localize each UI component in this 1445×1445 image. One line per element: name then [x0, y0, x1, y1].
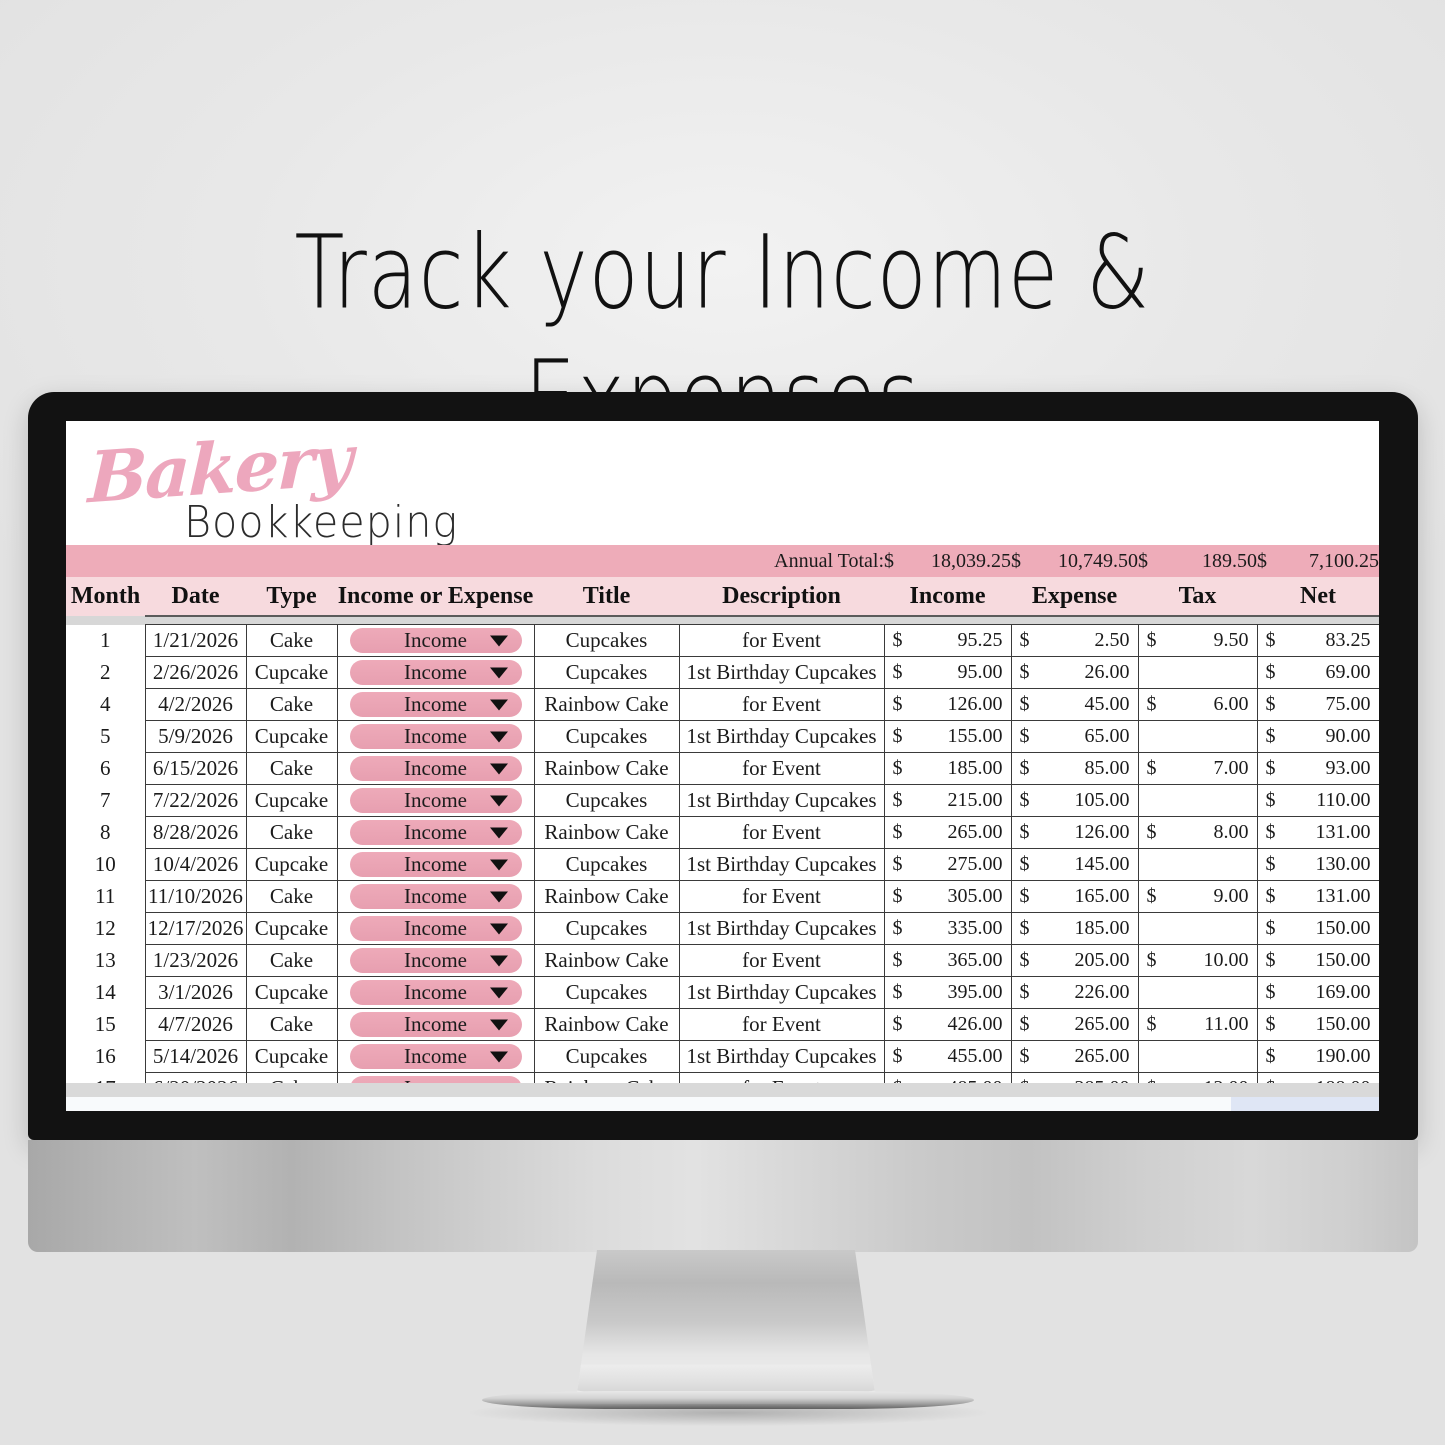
money-cell[interactable]: $155.00 — [884, 721, 1011, 753]
money-cell[interactable]: $110.00 — [1257, 785, 1379, 817]
amount-value: 90.00 — [1326, 725, 1371, 748]
cell-income-or-expense[interactable]: Income — [337, 817, 534, 849]
cell-type[interactable]: Cupcake — [246, 657, 337, 689]
amount-value: 65.00 — [1085, 725, 1130, 748]
cell-title[interactable]: Cupcakes — [534, 913, 679, 945]
money-cell[interactable]: $9.50 — [1138, 625, 1257, 657]
cell-month: 13 — [66, 945, 145, 977]
table-row[interactable]: 1111/10/2026CakeIncomeRainbow Cakefor Ev… — [66, 881, 1379, 913]
income-expense-dropdown[interactable]: Income — [350, 884, 522, 909]
currency-symbol: $ — [893, 725, 903, 748]
sheet-tabs-clipped[interactable] — [66, 1105, 1379, 1111]
cell-date[interactable]: 5/14/2026 — [145, 1041, 246, 1073]
currency-symbol: $ — [893, 949, 903, 972]
dropdown-selected-label: Income — [404, 916, 467, 941]
table-row[interactable]: 143/1/2026CupcakeIncomeCupcakes1st Birth… — [66, 977, 1379, 1009]
cell-date[interactable]: 4/2/2026 — [145, 689, 246, 721]
cell-income-or-expense[interactable]: Income — [337, 1009, 534, 1041]
cell-description[interactable]: for Event — [679, 753, 884, 785]
cell-month: 6 — [66, 753, 145, 785]
chevron-down-icon[interactable] — [490, 1051, 508, 1062]
amount-value: 130.00 — [1316, 853, 1371, 876]
currency-symbol: $ — [1020, 757, 1030, 780]
cell-description[interactable]: for Event — [679, 1009, 884, 1041]
money-cell[interactable]: $105.00 — [1011, 785, 1138, 817]
table-row[interactable]: 66/15/2026CakeIncomeRainbow Cakefor Even… — [66, 753, 1379, 785]
cell-date[interactable]: 10/4/2026 — [145, 849, 246, 881]
currency-symbol: $ — [893, 629, 903, 652]
cell-description[interactable]: for Event — [679, 881, 884, 913]
currency-symbol: $ — [1020, 885, 1030, 908]
ledger-table: Annual Total:$18,039.25$10,749.50$189.50… — [66, 545, 1379, 1105]
money-cell[interactable]: $126.00 — [884, 689, 1011, 721]
money-cell[interactable]: $8.00 — [1138, 817, 1257, 849]
table-row[interactable]: 1010/4/2026CupcakeIncomeCupcakes1st Birt… — [66, 849, 1379, 881]
cell-description[interactable]: for Event — [679, 689, 884, 721]
cell-type[interactable]: Cupcake — [246, 1041, 337, 1073]
money-cell[interactable]: $205.00 — [1011, 945, 1138, 977]
cell-title[interactable]: Cupcakes — [534, 785, 679, 817]
cell-income-or-expense[interactable]: Income — [337, 977, 534, 1009]
monitor-screen: Bakery Bookkeeping Annual Total:$18,039.… — [66, 421, 1379, 1111]
dropdown-selected-label: Income — [404, 724, 467, 749]
cell-type[interactable]: Cake — [246, 625, 337, 657]
table-row[interactable]: 165/14/2026CupcakeIncomeCupcakes1st Birt… — [66, 1041, 1379, 1073]
currency-symbol: $ — [893, 789, 903, 812]
dropdown-selected-label: Income — [404, 660, 467, 685]
amount-value: 150.00 — [1316, 949, 1371, 972]
amount-value: 10,749.50 — [1058, 550, 1138, 573]
cell-date[interactable]: 7/22/2026 — [145, 785, 246, 817]
cell-type[interactable]: Cupcake — [246, 977, 337, 1009]
cell-description[interactable]: 1st Birthday Cupcakes — [679, 721, 884, 753]
amount-value: 155.00 — [948, 725, 1003, 748]
currency-symbol: $ — [893, 885, 903, 908]
income-expense-dropdown[interactable]: Income — [350, 948, 522, 973]
income-expense-dropdown[interactable]: Income — [350, 724, 522, 749]
currency-symbol: $ — [1266, 661, 1276, 684]
column-header-type[interactable]: Type — [246, 577, 337, 616]
cell-type[interactable]: Cupcake — [246, 721, 337, 753]
income-expense-dropdown[interactable]: Income — [350, 852, 522, 877]
brand-logo: Bakery Bookkeeping — [66, 421, 1379, 545]
cell-type[interactable]: Cake — [246, 689, 337, 721]
currency-symbol: $ — [1020, 949, 1030, 972]
stand-shadow — [470, 1404, 986, 1426]
amount-value: 205.00 — [1075, 949, 1130, 972]
currency-symbol: $ — [884, 550, 894, 573]
dropdown-selected-label: Income — [404, 756, 467, 781]
table-row[interactable]: 131/23/2026CakeIncomeRainbow Cakefor Eve… — [66, 945, 1379, 977]
money-cell[interactable]: $75.00 — [1257, 689, 1379, 721]
cell-description[interactable]: 1st Birthday Cupcakes — [679, 657, 884, 689]
annual-total-tax: $189.50 — [1138, 545, 1257, 577]
header-gap-cell — [66, 616, 1379, 625]
money-cell-empty[interactable] — [1138, 721, 1257, 753]
amount-value: 365.00 — [948, 949, 1003, 972]
cell-month: 11 — [66, 881, 145, 913]
money-cell[interactable]: $426.00 — [884, 1009, 1011, 1041]
money-cell-empty[interactable] — [1138, 785, 1257, 817]
column-header-title[interactable]: Title — [534, 577, 679, 616]
currency-symbol: $ — [893, 1013, 903, 1036]
money-cell[interactable]: $150.00 — [1257, 1009, 1379, 1041]
logo-subtitle-text: Bookkeeping — [184, 497, 458, 548]
column-header-income[interactable]: Income — [884, 577, 1011, 616]
currency-symbol: $ — [1020, 821, 1030, 844]
cell-type[interactable]: Cake — [246, 945, 337, 977]
cell-month: 7 — [66, 785, 145, 817]
cell-type[interactable]: Cupcake — [246, 785, 337, 817]
money-cell[interactable]: $150.00 — [1257, 945, 1379, 977]
annual-total-income: $18,039.25 — [884, 545, 1011, 577]
chevron-down-icon[interactable] — [490, 635, 508, 646]
money-cell[interactable]: $90.00 — [1257, 721, 1379, 753]
sheet-bottom-strip — [66, 1083, 1379, 1097]
money-cell[interactable]: $2.50 — [1011, 625, 1138, 657]
cell-title[interactable]: Cupcakes — [534, 1041, 679, 1073]
income-expense-dropdown[interactable]: Income — [350, 1012, 522, 1037]
money-cell[interactable]: $95.25 — [884, 625, 1011, 657]
currency-symbol: $ — [1266, 853, 1276, 876]
cell-income-or-expense[interactable]: Income — [337, 689, 534, 721]
money-cell[interactable]: $130.00 — [1257, 849, 1379, 881]
amount-value: 8.00 — [1214, 821, 1249, 844]
annual-total-net: $7,100.25 — [1257, 545, 1379, 577]
cell-month: 16 — [66, 1041, 145, 1073]
amount-value: 85.00 — [1085, 757, 1130, 780]
money-cell-empty[interactable] — [1138, 913, 1257, 945]
cell-income-or-expense[interactable]: Income — [337, 753, 534, 785]
income-expense-dropdown[interactable]: Income — [350, 980, 522, 1005]
cell-date[interactable]: 1/23/2026 — [145, 945, 246, 977]
cell-type[interactable]: Cake — [246, 881, 337, 913]
dropdown-selected-label: Income — [404, 852, 467, 877]
table-row[interactable]: 77/22/2026CupcakeIncomeCupcakes1st Birth… — [66, 785, 1379, 817]
currency-symbol: $ — [1266, 693, 1276, 716]
currency-symbol: $ — [1266, 885, 1276, 908]
money-cell[interactable]: $185.00 — [1011, 913, 1138, 945]
annual-total-expense: $10,749.50 — [1011, 545, 1138, 577]
amount-value: 6.00 — [1214, 693, 1249, 716]
chevron-down-icon[interactable] — [490, 667, 508, 678]
amount-value: 145.00 — [1075, 853, 1130, 876]
currency-symbol: $ — [893, 693, 903, 716]
amount-value: 105.00 — [1075, 789, 1130, 812]
income-expense-dropdown[interactable]: Income — [350, 1044, 522, 1069]
cell-title[interactable]: Rainbow Cake — [534, 1009, 679, 1041]
cell-month: 5 — [66, 721, 145, 753]
dropdown-selected-label: Income — [404, 884, 467, 909]
cell-title[interactable]: Cupcakes — [534, 657, 679, 689]
money-cell-empty[interactable] — [1138, 657, 1257, 689]
cell-description[interactable]: 1st Birthday Cupcakes — [679, 785, 884, 817]
amount-value: 18,039.25 — [931, 550, 1011, 573]
cell-month: 4 — [66, 689, 145, 721]
cell-income-or-expense[interactable]: Income — [337, 849, 534, 881]
currency-symbol: $ — [1020, 629, 1030, 652]
currency-symbol: $ — [1020, 661, 1030, 684]
cell-description[interactable]: 1st Birthday Cupcakes — [679, 849, 884, 881]
table-row[interactable]: 11/21/2026CakeIncomeCupcakesfor Event$95… — [66, 625, 1379, 657]
money-cell[interactable]: $165.00 — [1011, 881, 1138, 913]
currency-symbol: $ — [1020, 725, 1030, 748]
cell-title[interactable]: Cupcakes — [534, 977, 679, 1009]
money-cell[interactable]: $185.00 — [884, 753, 1011, 785]
cell-income-or-expense[interactable]: Income — [337, 881, 534, 913]
amount-value: 150.00 — [1316, 917, 1371, 940]
cell-description[interactable]: for Event — [679, 817, 884, 849]
cell-month: 15 — [66, 1009, 145, 1041]
money-cell[interactable]: $455.00 — [884, 1041, 1011, 1073]
currency-symbol: $ — [1266, 821, 1276, 844]
money-cell[interactable]: $169.00 — [1257, 977, 1379, 1009]
currency-symbol: $ — [1147, 821, 1157, 844]
currency-symbol: $ — [1147, 757, 1157, 780]
income-expense-dropdown[interactable]: Income — [350, 916, 522, 941]
cell-date[interactable]: 3/1/2026 — [145, 977, 246, 1009]
cell-title[interactable]: Cupcakes — [534, 625, 679, 657]
chevron-down-icon[interactable] — [490, 827, 508, 838]
money-cell[interactable]: $215.00 — [884, 785, 1011, 817]
amount-value: 150.00 — [1316, 1013, 1371, 1036]
amount-value: 265.00 — [1075, 1045, 1130, 1068]
currency-symbol: $ — [1266, 917, 1276, 940]
amount-value: 75.00 — [1326, 693, 1371, 716]
cell-title[interactable]: Rainbow Cake — [534, 689, 679, 721]
cell-month: 2 — [66, 657, 145, 689]
amount-value: 93.00 — [1326, 757, 1371, 780]
amount-value: 275.00 — [948, 853, 1003, 876]
money-cell-empty[interactable] — [1138, 849, 1257, 881]
cell-date[interactable]: 1/21/2026 — [145, 625, 246, 657]
money-cell[interactable]: $85.00 — [1011, 753, 1138, 785]
dropdown-selected-label: Income — [404, 1044, 467, 1069]
money-cell[interactable]: $131.00 — [1257, 817, 1379, 849]
cell-date[interactable]: 4/7/2026 — [145, 1009, 246, 1041]
money-cell[interactable]: $335.00 — [884, 913, 1011, 945]
chevron-down-icon[interactable] — [490, 987, 508, 998]
column-header-row: MonthDateTypeIncome or ExpenseTitleDescr… — [66, 577, 1379, 616]
column-header-tax[interactable]: Tax — [1138, 577, 1257, 616]
cell-title[interactable]: Rainbow Cake — [534, 881, 679, 913]
money-cell[interactable]: $365.00 — [884, 945, 1011, 977]
chevron-down-icon[interactable] — [490, 795, 508, 806]
currency-symbol: $ — [1147, 629, 1157, 652]
cell-title[interactable]: Rainbow Cake — [534, 945, 679, 977]
column-header-date[interactable]: Date — [145, 577, 246, 616]
cell-income-or-expense[interactable]: Income — [337, 1041, 534, 1073]
cell-title[interactable]: Cupcakes — [534, 849, 679, 881]
currency-symbol: $ — [1020, 693, 1030, 716]
chevron-down-icon[interactable] — [490, 923, 508, 934]
money-cell[interactable]: $395.00 — [884, 977, 1011, 1009]
table-row[interactable]: 88/28/2026CakeIncomeRainbow Cakefor Even… — [66, 817, 1379, 849]
currency-symbol: $ — [1266, 629, 1276, 652]
cell-month: 1 — [66, 625, 145, 657]
income-expense-dropdown[interactable]: Income — [350, 820, 522, 845]
currency-symbol: $ — [1138, 550, 1148, 573]
cell-date[interactable]: 5/9/2026 — [145, 721, 246, 753]
amount-value: 95.00 — [958, 661, 1003, 684]
chevron-down-icon[interactable] — [490, 891, 508, 902]
money-cell[interactable]: $93.00 — [1257, 753, 1379, 785]
money-cell[interactable]: $11.00 — [1138, 1009, 1257, 1041]
chevron-down-icon[interactable] — [490, 763, 508, 774]
column-header-description[interactable]: Description — [679, 577, 884, 616]
money-cell[interactable]: $10.00 — [1138, 945, 1257, 977]
cell-income-or-expense[interactable]: Income — [337, 657, 534, 689]
chevron-down-icon[interactable] — [490, 699, 508, 710]
amount-value: 395.00 — [948, 981, 1003, 1004]
cell-title[interactable]: Cupcakes — [534, 721, 679, 753]
dropdown-selected-label: Income — [404, 1012, 467, 1037]
cell-date[interactable]: 11/10/2026 — [145, 881, 246, 913]
dropdown-selected-label: Income — [404, 980, 467, 1005]
amount-value: 265.00 — [1075, 1013, 1130, 1036]
currency-symbol: $ — [1020, 789, 1030, 812]
cell-month: 10 — [66, 849, 145, 881]
table-row[interactable]: 44/2/2026CakeIncomeRainbow Cakefor Event… — [66, 689, 1379, 721]
cell-month: 14 — [66, 977, 145, 1009]
amount-value: 189.50 — [1202, 550, 1257, 573]
cell-title[interactable]: Rainbow Cake — [534, 817, 679, 849]
table-row[interactable]: 154/7/2026CakeIncomeRainbow Cakefor Even… — [66, 1009, 1379, 1041]
dropdown-selected-label: Income — [404, 788, 467, 813]
amount-value: 165.00 — [1075, 885, 1130, 908]
currency-symbol: $ — [1266, 1013, 1276, 1036]
cell-description[interactable]: 1st Birthday Cupcakes — [679, 977, 884, 1009]
money-cell[interactable]: $69.00 — [1257, 657, 1379, 689]
cell-type[interactable]: Cake — [246, 753, 337, 785]
money-cell[interactable]: $305.00 — [884, 881, 1011, 913]
cell-income-or-expense[interactable]: Income — [337, 945, 534, 977]
cell-date[interactable]: 12/17/2026 — [145, 913, 246, 945]
currency-symbol: $ — [1266, 949, 1276, 972]
currency-symbol: $ — [1147, 949, 1157, 972]
money-cell[interactable]: $226.00 — [1011, 977, 1138, 1009]
cell-income-or-expense[interactable]: Income — [337, 913, 534, 945]
cell-income-or-expense[interactable]: Income — [337, 785, 534, 817]
money-cell-empty[interactable] — [1138, 1041, 1257, 1073]
chevron-down-icon[interactable] — [490, 1019, 508, 1030]
amount-value: 126.00 — [948, 693, 1003, 716]
table-row[interactable]: 1212/17/2026CupcakeIncomeCupcakes1st Bir… — [66, 913, 1379, 945]
column-header-expense[interactable]: Expense — [1011, 577, 1138, 616]
money-cell[interactable]: $65.00 — [1011, 721, 1138, 753]
cell-type[interactable]: Cupcake — [246, 849, 337, 881]
money-cell[interactable]: $190.00 — [1257, 1041, 1379, 1073]
dropdown-selected-label: Income — [404, 628, 467, 653]
money-cell[interactable]: $6.00 — [1138, 689, 1257, 721]
poster-canvas: Track your Income & Expenses for the Mon… — [0, 0, 1445, 1445]
amount-value: 215.00 — [948, 789, 1003, 812]
income-expense-dropdown[interactable]: Income — [350, 660, 522, 685]
currency-symbol: $ — [1266, 757, 1276, 780]
currency-symbol: $ — [1147, 885, 1157, 908]
currency-symbol: $ — [893, 821, 903, 844]
money-cell[interactable]: $126.00 — [1011, 817, 1138, 849]
currency-symbol: $ — [1147, 693, 1157, 716]
cell-description[interactable]: 1st Birthday Cupcakes — [679, 1041, 884, 1073]
money-cell[interactable]: $150.00 — [1257, 913, 1379, 945]
column-header-month[interactable]: Month — [66, 577, 145, 616]
money-cell[interactable]: $45.00 — [1011, 689, 1138, 721]
currency-symbol: $ — [1020, 981, 1030, 1004]
cell-date[interactable]: 6/15/2026 — [145, 753, 246, 785]
monitor-chin — [28, 1140, 1418, 1252]
currency-symbol: $ — [1266, 789, 1276, 812]
money-cell[interactable]: $265.00 — [1011, 1009, 1138, 1041]
money-cell[interactable]: $26.00 — [1011, 657, 1138, 689]
column-header-income-or-expense[interactable]: Income or Expense — [337, 577, 534, 616]
cell-description[interactable]: for Event — [679, 625, 884, 657]
dropdown-selected-label: Income — [404, 692, 467, 717]
cell-income-or-expense[interactable]: Income — [337, 625, 534, 657]
monitor-stand-neck — [576, 1250, 876, 1400]
amount-value: 2.50 — [1095, 629, 1130, 652]
cell-date[interactable]: 8/28/2026 — [145, 817, 246, 849]
chevron-down-icon[interactable] — [490, 859, 508, 870]
currency-symbol: $ — [893, 853, 903, 876]
chevron-down-icon[interactable] — [490, 731, 508, 742]
money-cell[interactable]: $265.00 — [884, 817, 1011, 849]
income-expense-dropdown[interactable]: Income — [350, 628, 522, 653]
amount-value: 26.00 — [1085, 661, 1130, 684]
amount-value: 185.00 — [948, 757, 1003, 780]
cell-income-or-expense[interactable]: Income — [337, 721, 534, 753]
income-expense-dropdown[interactable]: Income — [350, 756, 522, 781]
income-expense-dropdown[interactable]: Income — [350, 692, 522, 717]
currency-symbol: $ — [1266, 1045, 1276, 1068]
chevron-down-icon[interactable] — [490, 955, 508, 966]
amount-value: 335.00 — [948, 917, 1003, 940]
cell-description[interactable]: 1st Birthday Cupcakes — [679, 913, 884, 945]
money-cell-empty[interactable] — [1138, 977, 1257, 1009]
amount-value: 95.25 — [958, 629, 1003, 652]
money-cell[interactable]: $7.00 — [1138, 753, 1257, 785]
money-cell[interactable]: $145.00 — [1011, 849, 1138, 881]
amount-value: 126.00 — [1075, 821, 1130, 844]
cell-description[interactable]: for Event — [679, 945, 884, 977]
money-cell[interactable]: $275.00 — [884, 849, 1011, 881]
income-expense-dropdown[interactable]: Income — [350, 788, 522, 813]
spreadsheet: Annual Total:$18,039.25$10,749.50$189.50… — [66, 545, 1379, 1105]
money-cell[interactable]: $9.00 — [1138, 881, 1257, 913]
money-cell[interactable]: $131.00 — [1257, 881, 1379, 913]
table-row[interactable]: 22/26/2026CupcakeIncomeCupcakes1st Birth… — [66, 657, 1379, 689]
money-cell[interactable]: $265.00 — [1011, 1041, 1138, 1073]
amount-value: 185.00 — [1075, 917, 1130, 940]
money-cell[interactable]: $95.00 — [884, 657, 1011, 689]
amount-value: 131.00 — [1316, 821, 1371, 844]
cell-type[interactable]: Cake — [246, 817, 337, 849]
header-gap — [66, 616, 1379, 625]
amount-value: 110.00 — [1316, 789, 1370, 812]
currency-symbol: $ — [1266, 725, 1276, 748]
amount-value: 7.00 — [1214, 757, 1249, 780]
amount-value: 7,100.25 — [1309, 550, 1379, 573]
column-header-net[interactable]: Net — [1257, 577, 1379, 616]
amount-value: 10.00 — [1204, 949, 1249, 972]
cell-date[interactable]: 2/26/2026 — [145, 657, 246, 689]
cell-type[interactable]: Cupcake — [246, 913, 337, 945]
money-cell[interactable]: $83.25 — [1257, 625, 1379, 657]
cell-title[interactable]: Rainbow Cake — [534, 753, 679, 785]
cell-type[interactable]: Cake — [246, 1009, 337, 1041]
amount-value: 455.00 — [948, 1045, 1003, 1068]
table-row[interactable]: 55/9/2026CupcakeIncomeCupcakes1st Birthd… — [66, 721, 1379, 753]
